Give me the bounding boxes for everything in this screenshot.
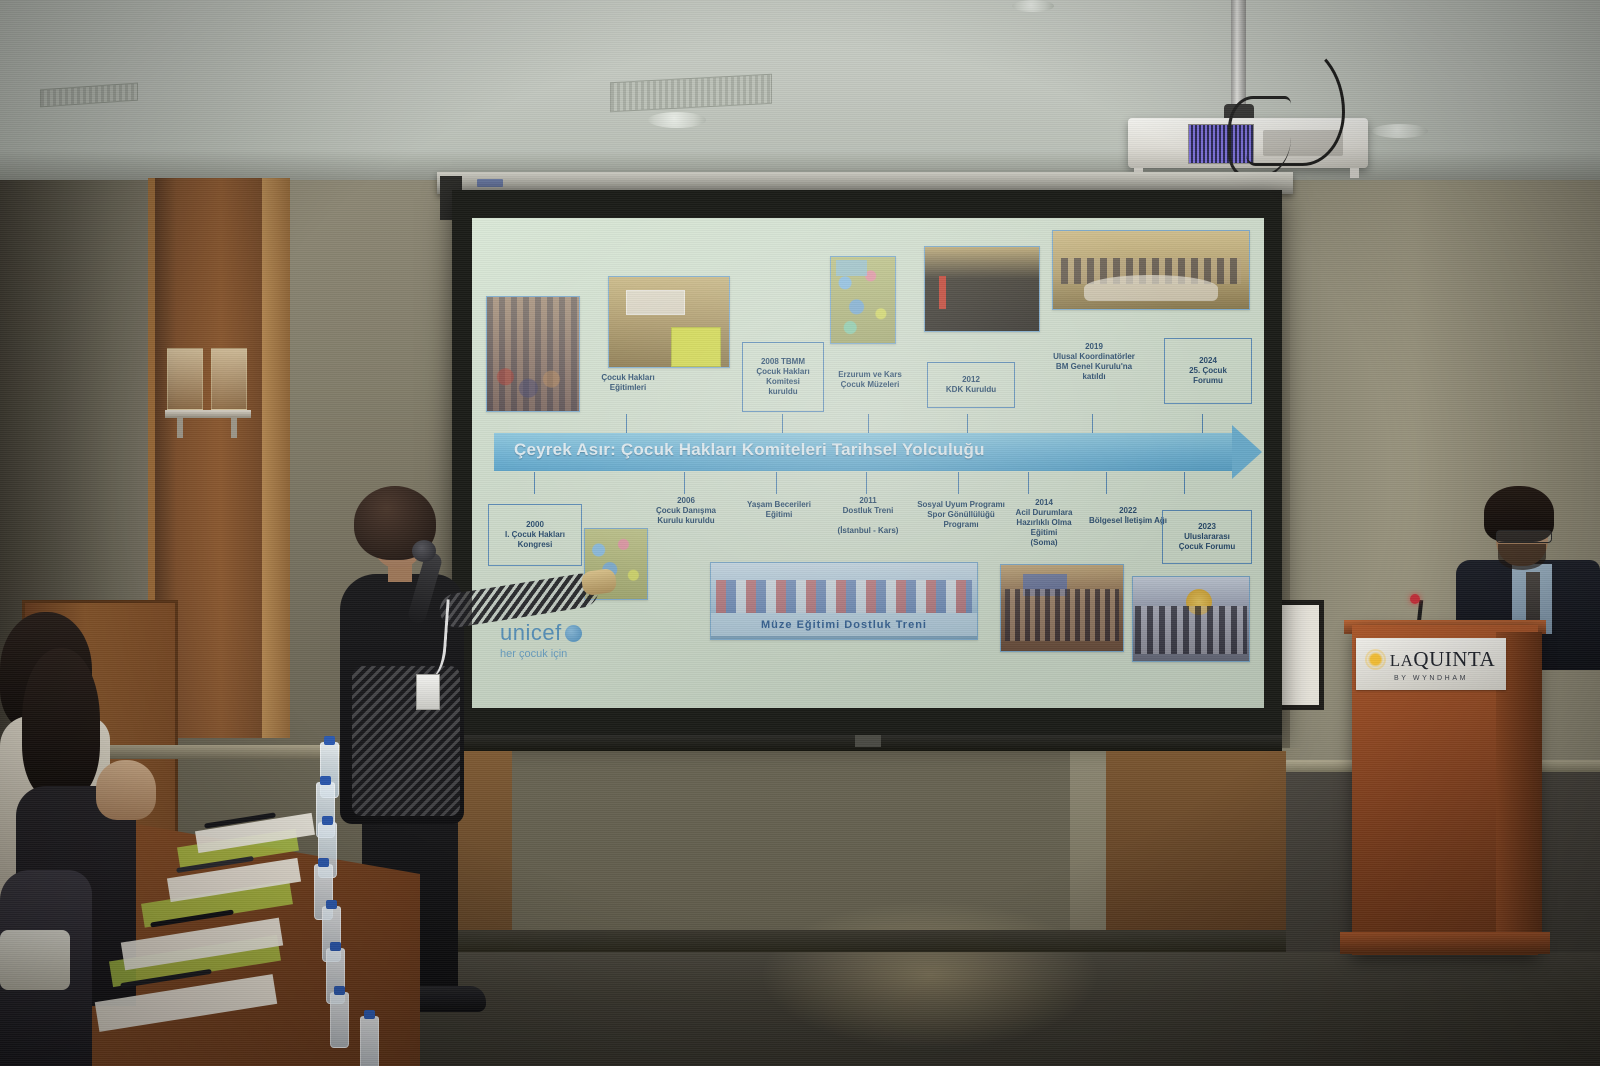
timeline-tick (782, 414, 783, 434)
slide-title: Çeyrek Asır: Çocuk Hakları Komiteleri Ta… (514, 440, 985, 460)
ceiling-downlight (648, 112, 706, 128)
timeline-tick (776, 472, 777, 494)
slide-photo-roundtable (1052, 230, 1250, 310)
audience-member-collar (0, 930, 70, 990)
ceiling-downlight (1012, 0, 1054, 12)
timeline-item-museums: Erzurum ve Kars Çocuk Müzeleri (822, 370, 918, 390)
projector-foot (1350, 168, 1359, 178)
timeline-tick (868, 414, 869, 434)
stage-wood-right (1106, 751, 1286, 951)
screen-pull-tab[interactable] (855, 735, 881, 747)
timeline-tick (958, 472, 959, 494)
timeline-item-2019: 2019 Ulusal Koordinatörler BM Genel Kuru… (1032, 342, 1156, 382)
timeline-tick (1028, 472, 1029, 494)
floor-light-reflection (760, 900, 1100, 1050)
timeline-item-2011: 2011 Dostluk Treni (İstanbul - Kars) (824, 496, 912, 536)
train-banner-text: Müze Eğitimi Dostluk Treni (711, 613, 977, 636)
audience-member-hand (96, 760, 156, 820)
timeline-tick (626, 414, 627, 434)
timeline-item-2023: 2023 Uluslararası Çocuk Forumu (1162, 510, 1252, 564)
ceiling-projector (1128, 0, 1378, 175)
slide-photo-train: Müze Eğitimi Dostluk Treni (710, 562, 978, 640)
timeline-item-2004: Çocuk Hakları Eğitimleri (582, 373, 674, 393)
venue-sign: LAQUINTA BY WYNDHAM (1356, 638, 1506, 690)
venue-brand-prefix: LA (1390, 651, 1414, 670)
venue-brand-sub: BY WYNDHAM (1394, 675, 1468, 682)
timeline-item-2022: 2022 Bölgesel İletişim Ağı (1084, 506, 1172, 526)
timeline-tick (1092, 414, 1093, 434)
timeline-item-2006: 2006 Çocuk Danışma Kurulu kuruldu (638, 496, 734, 526)
slide-photo-hall (608, 276, 730, 368)
timeline-tick (967, 414, 968, 434)
slide-photo-artwork (830, 256, 896, 344)
projector-cable (1228, 96, 1291, 178)
timeline-item-2024: 2024 25. Çocuk Forumu (1164, 338, 1252, 404)
timeline-arrow-head (1232, 425, 1262, 479)
timeline-item-2014: 2014 Acil Durumlara Hazırlıklı Olma Eğit… (1002, 498, 1086, 548)
timeline-tick (1106, 472, 1107, 494)
timeline-tick (684, 472, 685, 494)
sun-icon (1367, 651, 1384, 668)
water-bottle[interactable] (360, 1016, 379, 1066)
presenter-pointing-arm (437, 571, 600, 630)
eyeglasses-icon (1496, 530, 1552, 543)
timeline-tick (1202, 414, 1203, 434)
wall-sconce-lamp (165, 348, 251, 438)
timeline-item-2008: 2008 TBMM Çocuk Hakları Komitesi kuruldu (742, 342, 824, 412)
timeline-item-2012: 2012 KDK Kuruldu (927, 362, 1015, 408)
microphone-head-icon (412, 540, 436, 562)
microphone-status-light (1410, 594, 1420, 604)
timeline-tick (866, 472, 867, 494)
slide-photo-crowd (486, 296, 580, 412)
wood-wall-trim (262, 178, 290, 738)
audience-member-hair (22, 648, 100, 798)
speaker-beard (1498, 544, 1546, 570)
timeline-item-lifeskills: Yaşam Becerileri Eğitimi (734, 500, 824, 520)
presenter-patterned-top (352, 666, 460, 816)
timeline-tick (1184, 472, 1185, 494)
conference-room-photo: Çocuk Hakları Eğitimleri 2008 TBMM Çocuk… (0, 0, 1600, 1066)
venue-brand-main: QUINTA (1413, 647, 1495, 671)
slide-photo-assembly (924, 246, 1040, 332)
slide-photo-group-2 (1132, 576, 1250, 662)
screen-brand-logo (477, 179, 503, 187)
slide-photo-group-1 (1000, 564, 1124, 652)
timeline-item-social: Sosyal Uyum Programı Spor Gönüllülüğü Pr… (912, 500, 1010, 530)
ceiling-downlight (1372, 124, 1428, 138)
water-bottle[interactable] (330, 992, 349, 1048)
podium-base (1340, 932, 1550, 954)
name-badge (416, 674, 440, 710)
projector-mount-pole (1231, 0, 1246, 112)
